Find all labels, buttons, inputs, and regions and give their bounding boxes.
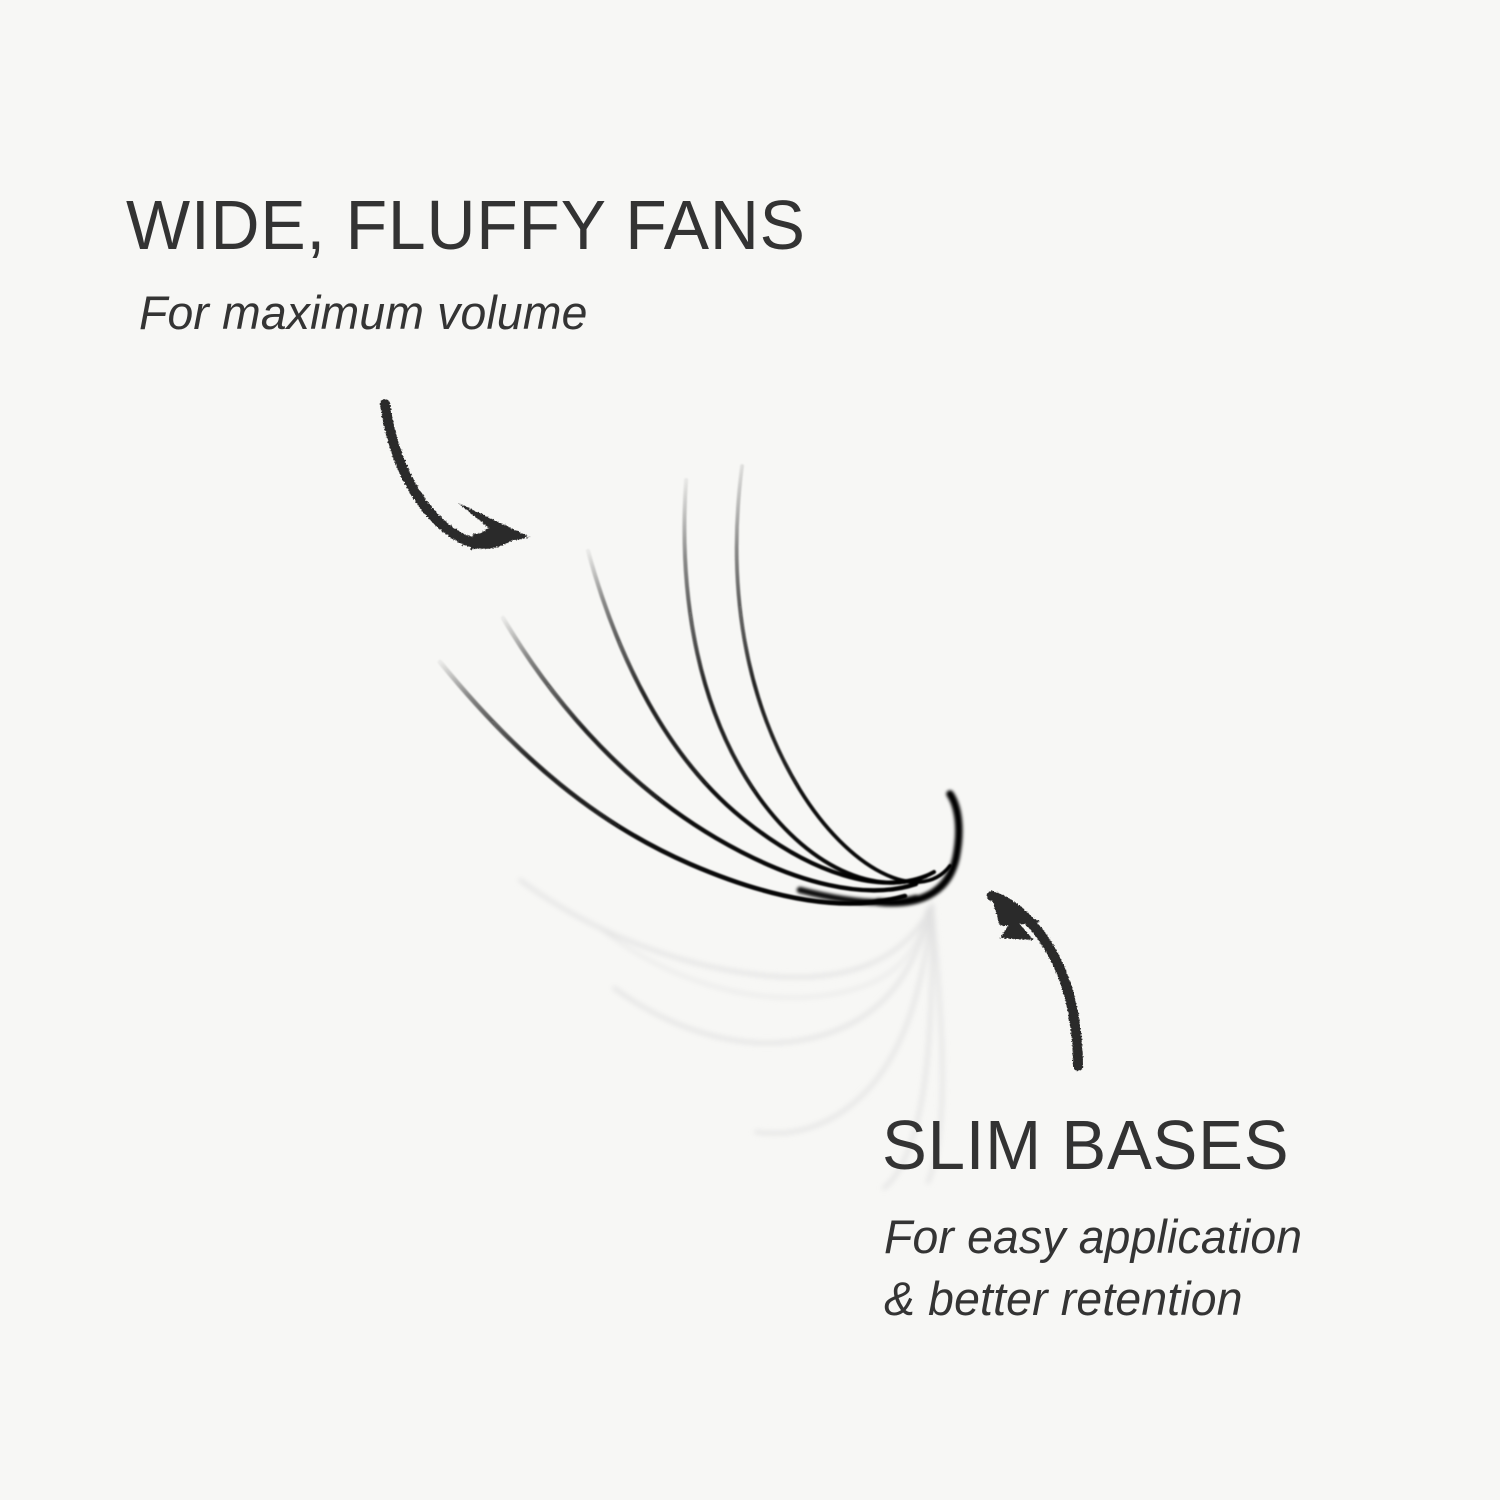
callout-subtitle-wide-fluffy-fans: For maximum volume (139, 282, 816, 344)
callout-subtitle-slim-bases-line-1: For easy application (884, 1206, 1302, 1268)
callout-slim-bases: SLIM BASES For easy application & better… (882, 1110, 1309, 1330)
lash-fan-reflection (520, 880, 943, 1188)
arrow-to-fan-tips (385, 404, 530, 550)
callout-subtitle-slim-bases-line-2: & better retention (884, 1268, 1302, 1330)
lash-fan-illustration (440, 466, 950, 904)
lash-base-hook (800, 794, 959, 903)
lash-strand-4 (684, 480, 934, 883)
callout-wide-fluffy-fans: WIDE, FLUFFY FANS For maximum volume (126, 190, 827, 344)
lash-strand-3 (588, 551, 926, 883)
lash-strand-2 (503, 618, 916, 890)
arrow-to-base (988, 890, 1078, 1066)
callout-title-slim-bases: SLIM BASES (882, 1110, 1292, 1180)
product-feature-graphic: WIDE, FLUFFY FANS For maximum volume SLI… (0, 0, 1500, 1500)
lash-strand-1 (440, 662, 905, 904)
lash-strand-5 (737, 466, 950, 882)
callout-title-wide-fluffy-fans: WIDE, FLUFFY FANS (126, 190, 806, 260)
callout-subtitle-block-slim-bases: For easy application & better retention (884, 1206, 1309, 1330)
